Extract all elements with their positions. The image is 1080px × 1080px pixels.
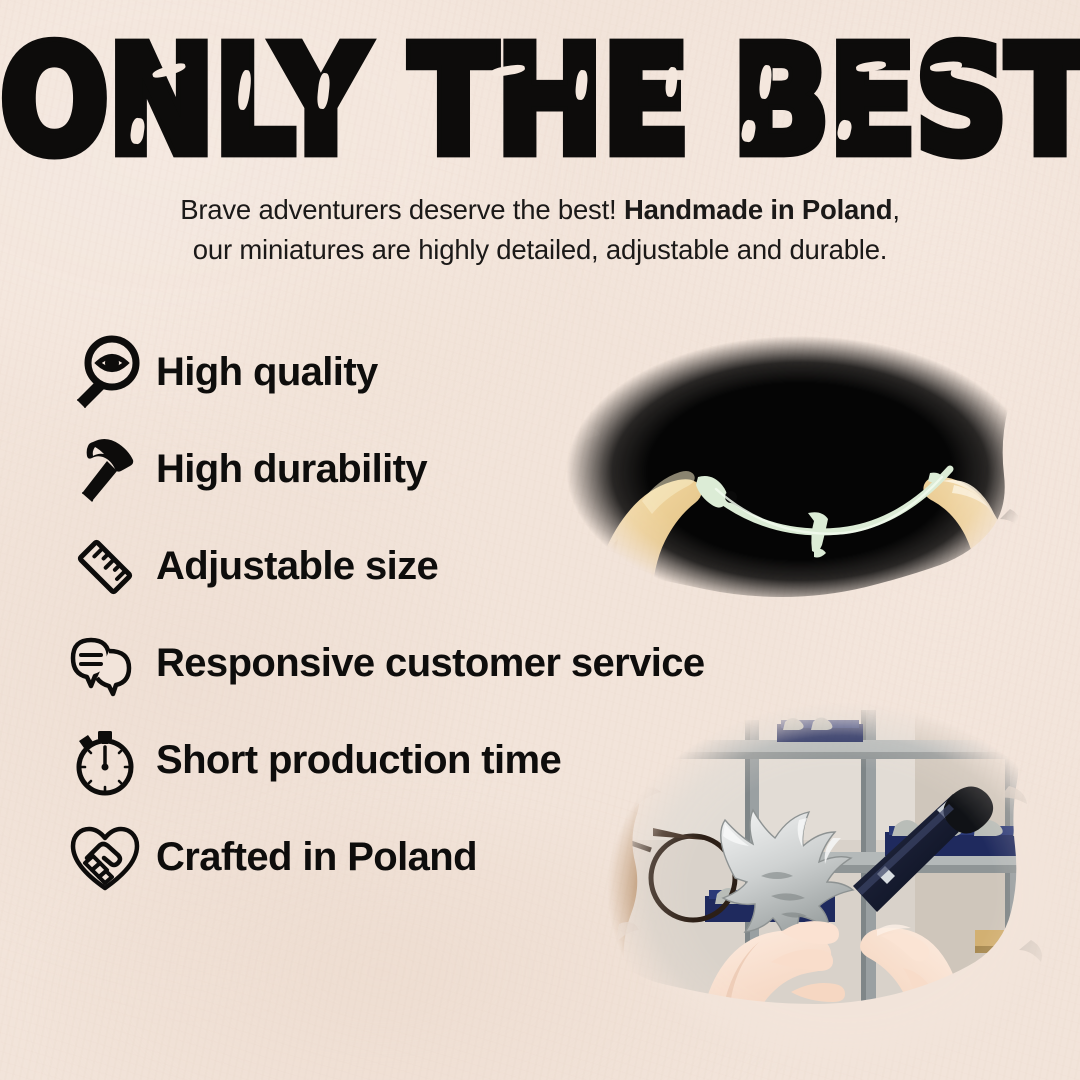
miniature-details xyxy=(696,473,944,558)
hammer-icon xyxy=(62,427,148,513)
feature-label: Adjustable size xyxy=(156,544,438,589)
feature-label: Short production time xyxy=(156,738,561,783)
speech-bubbles-icon xyxy=(62,621,148,707)
ruler-icon xyxy=(62,524,148,610)
subtitle: Brave adventurers deserve the best! Hand… xyxy=(0,190,1080,270)
subtitle-line-1: Brave adventurers deserve the best! Hand… xyxy=(180,194,900,225)
feature-label: High quality xyxy=(156,350,378,395)
subtitle-tail: , xyxy=(892,194,899,225)
photo-content xyxy=(585,700,1080,1080)
subtitle-lead: Brave adventurers deserve the best! xyxy=(180,194,616,225)
feature-label: Responsive customer service xyxy=(156,641,705,686)
painting-dragon-miniature-photo xyxy=(585,700,1080,1080)
right-fingertip xyxy=(923,477,1022,605)
photo-content xyxy=(530,305,1070,625)
handshake-heart-icon xyxy=(62,815,148,901)
subtitle-line-2: our miniatures are highly detailed, adju… xyxy=(193,234,888,265)
feature-label: High durability xyxy=(156,447,427,492)
page-title: ONLY THE BEST xyxy=(0,28,1080,176)
fingers-holding-miniature-photo xyxy=(530,305,1070,625)
stopwatch-icon xyxy=(62,718,148,804)
poster-canvas: ONLY THE BEST Brave adventurers deserve … xyxy=(0,0,1080,1080)
magnifier-eye-icon xyxy=(62,330,148,416)
subtitle-emphasis: Handmade in Poland xyxy=(624,194,892,225)
feature-item: Responsive customer service xyxy=(62,615,792,712)
feature-label: Crafted in Poland xyxy=(156,835,477,880)
left-fingertip xyxy=(590,471,702,605)
